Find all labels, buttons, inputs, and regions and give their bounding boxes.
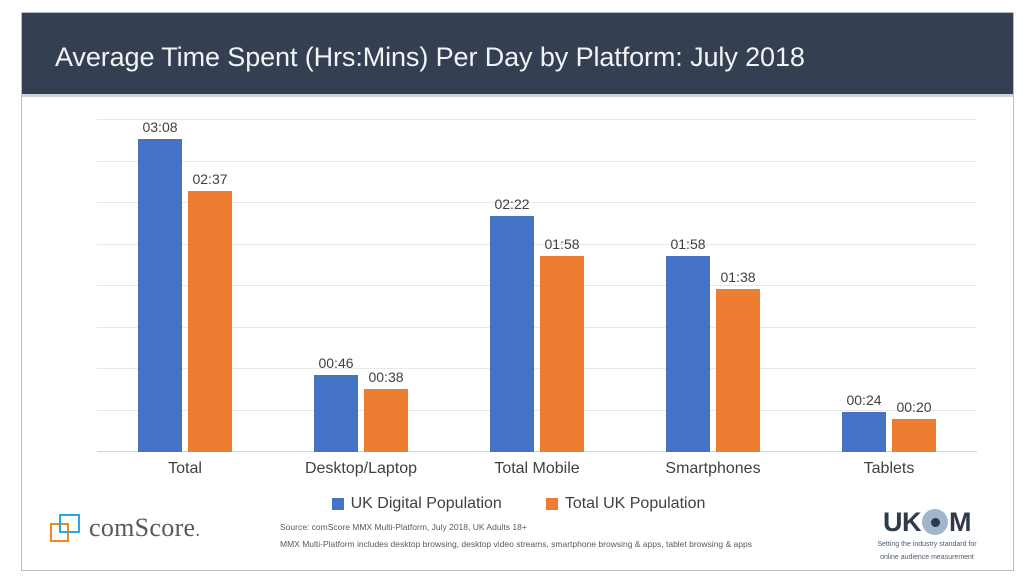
comscore-wordmark: comScore. bbox=[89, 513, 200, 543]
ukom-o-icon bbox=[922, 509, 948, 535]
bar-holder: 00:24 bbox=[842, 119, 886, 452]
x-axis-labels: Total Desktop/Laptop Total Mobile Smartp… bbox=[97, 460, 977, 478]
bar-holder: 02:37 bbox=[188, 119, 232, 452]
title-bar: Average Time Spent (Hrs:Mins) Per Day by… bbox=[22, 13, 1013, 97]
bar-group-smartphones: 01:58 01:38 bbox=[638, 119, 788, 452]
bar-total-uk-digital-population[interactable]: 03:08 bbox=[138, 139, 182, 452]
x-axis-label-tablets: Tablets bbox=[814, 460, 964, 478]
source-note: Source: comScore MMX Multi-Platform, Jul… bbox=[280, 519, 752, 553]
ukom-uk-text: UK bbox=[883, 507, 921, 537]
bar-value-label: 00:38 bbox=[368, 369, 403, 385]
bar-value-label: 00:24 bbox=[846, 392, 881, 408]
comscore-trademark-dot: . bbox=[195, 520, 200, 540]
bar-total-total-uk-population[interactable]: 02:37 bbox=[188, 191, 232, 452]
bar-value-label: 02:37 bbox=[192, 171, 227, 187]
x-axis-label-total-mobile: Total Mobile bbox=[462, 460, 612, 478]
ukom-tagline-1: Setting the industry standard for bbox=[863, 540, 991, 550]
bar-group-desktop-laptop: 00:46 00:38 bbox=[286, 119, 436, 452]
comscore-brand-text: comScore bbox=[89, 513, 195, 542]
bar-group-tablets: 00:24 00:20 bbox=[814, 119, 964, 452]
bar-desktop-laptop-uk-digital-population[interactable]: 00:46 bbox=[314, 375, 358, 452]
slide: Average Time Spent (Hrs:Mins) Per Day by… bbox=[21, 12, 1014, 571]
bar-tablets-total-uk-population[interactable]: 00:20 bbox=[892, 419, 936, 452]
bar-holder: 03:08 bbox=[138, 119, 182, 452]
ukom-logo: UK M Setting the industry standard for o… bbox=[863, 507, 991, 563]
bar-smartphones-uk-digital-population[interactable]: 01:58 bbox=[666, 256, 710, 452]
bar-holder: 02:22 bbox=[490, 119, 534, 452]
bar-holder: 01:38 bbox=[716, 119, 760, 452]
bar-value-label: 03:08 bbox=[142, 119, 177, 135]
bar-group-total-mobile: 02:22 01:58 bbox=[462, 119, 612, 452]
bar-total-mobile-uk-digital-population[interactable]: 02:22 bbox=[490, 216, 534, 452]
bar-group-total: 03:08 02:37 bbox=[110, 119, 260, 452]
page-title: Average Time Spent (Hrs:Mins) Per Day by… bbox=[55, 42, 805, 73]
x-axis-label-desktop-laptop: Desktop/Laptop bbox=[286, 460, 436, 478]
source-line-1: Source: comScore MMX Multi-Platform, Jul… bbox=[280, 519, 752, 536]
bar-value-label: 01:38 bbox=[720, 269, 755, 285]
bar-value-label: 00:46 bbox=[318, 355, 353, 371]
ukom-tagline-2: online audience measurement bbox=[863, 553, 991, 563]
ukom-m-text: M bbox=[949, 507, 971, 537]
bar-value-label: 00:20 bbox=[896, 399, 931, 415]
bar-holder: 00:46 bbox=[314, 119, 358, 452]
comscore-logo: comScore. bbox=[50, 513, 200, 543]
bar-holder: 01:58 bbox=[540, 119, 584, 452]
bar-value-label: 01:58 bbox=[670, 236, 705, 252]
bar-total-mobile-total-uk-population[interactable]: 01:58 bbox=[540, 256, 584, 452]
bar-groups: 03:08 02:37 00:46 bbox=[97, 119, 977, 452]
bar-holder: 00:38 bbox=[364, 119, 408, 452]
bar-tablets-uk-digital-population[interactable]: 00:24 bbox=[842, 412, 886, 452]
bar-desktop-laptop-total-uk-population[interactable]: 00:38 bbox=[364, 389, 408, 452]
bar-value-label: 01:58 bbox=[544, 236, 579, 252]
ukom-wordmark: UK M bbox=[863, 507, 991, 537]
footer: comScore. Source: comScore MMX Multi-Pla… bbox=[22, 501, 1015, 572]
plot-area: 03:08 02:37 00:46 bbox=[97, 119, 977, 452]
bar-smartphones-total-uk-population[interactable]: 01:38 bbox=[716, 289, 760, 452]
bar-holder: 00:20 bbox=[892, 119, 936, 452]
x-axis-label-total: Total bbox=[110, 460, 260, 478]
source-line-2: MMX Multi-Platform includes desktop brow… bbox=[280, 536, 752, 553]
bar-holder: 01:58 bbox=[666, 119, 710, 452]
bar-value-label: 02:22 bbox=[494, 196, 529, 212]
comscore-squares-icon bbox=[50, 514, 80, 542]
x-axis-label-smartphones: Smartphones bbox=[638, 460, 788, 478]
